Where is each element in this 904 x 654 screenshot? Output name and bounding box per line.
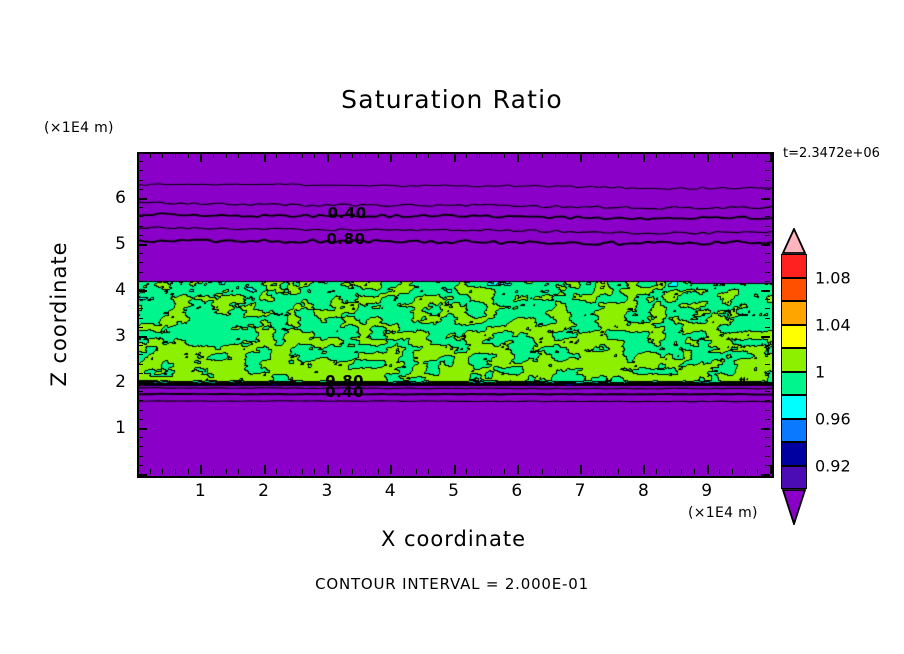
y-tick-label: 5 (96, 234, 126, 254)
x-axis-unit-label: (×1E4 m) (688, 505, 758, 521)
axis-tick (327, 465, 329, 474)
axis-tick (694, 153, 695, 158)
x-tick-label: 3 (321, 481, 332, 501)
axis-tick (643, 153, 645, 162)
axis-tick (765, 400, 770, 401)
axis-tick (732, 153, 733, 158)
axis-tick (162, 153, 163, 158)
axis-tick (761, 290, 770, 292)
colorbar-band (781, 442, 807, 466)
axis-tick (529, 153, 530, 158)
axis-tick (567, 153, 568, 158)
axis-tick (765, 318, 770, 319)
axis-tick (138, 428, 147, 430)
axis-tick (138, 152, 147, 154)
colorbar-tick-label: 1 (815, 362, 825, 381)
axis-tick (732, 469, 733, 474)
x-tick-label: 1 (195, 481, 206, 501)
axis-tick (138, 226, 143, 227)
colorbar-tick-label: 1.08 (815, 268, 851, 287)
axis-tick (669, 153, 670, 158)
axis-tick (765, 364, 770, 365)
axis-tick (378, 153, 379, 158)
axis-tick (765, 327, 770, 328)
axis-tick (707, 465, 709, 474)
axis-tick (340, 469, 341, 474)
axis-tick (138, 354, 143, 355)
axis-tick (719, 153, 720, 158)
axis-tick (138, 456, 143, 457)
axis-tick (264, 465, 266, 474)
axis-tick (213, 153, 214, 158)
axis-tick (238, 153, 239, 158)
axis-tick (365, 153, 366, 158)
axis-tick (138, 207, 143, 208)
axis-tick (757, 469, 758, 474)
colorbar-band (781, 278, 807, 302)
axis-tick (580, 153, 582, 162)
axis-tick (138, 446, 143, 447)
axis-tick (138, 364, 143, 365)
axis-tick (150, 469, 151, 474)
axis-tick (238, 469, 239, 474)
axis-tick (770, 465, 772, 474)
axis-tick (137, 465, 139, 474)
axis-tick (765, 391, 770, 392)
axis-tick (681, 469, 682, 474)
axis-tick (251, 153, 252, 158)
axis-tick (138, 198, 147, 200)
axis-tick (745, 469, 746, 474)
axis-tick (479, 153, 480, 158)
axis-tick (138, 336, 147, 338)
axis-tick (765, 235, 770, 236)
axis-tick (618, 469, 619, 474)
axis-tick (416, 153, 417, 158)
axis-tick (517, 465, 519, 474)
axis-tick (226, 153, 227, 158)
axis-tick (517, 153, 519, 162)
axis-tick (765, 272, 770, 273)
axis-tick (761, 474, 770, 476)
axis-tick (765, 308, 770, 309)
axis-tick (542, 469, 543, 474)
axis-tick (770, 153, 772, 162)
axis-tick (765, 465, 770, 466)
axis-tick (175, 153, 176, 158)
axis-tick (757, 153, 758, 158)
axis-tick (761, 198, 770, 200)
axis-tick (138, 345, 143, 346)
x-tick-label: 5 (448, 481, 459, 501)
colorbar-band (781, 254, 807, 278)
axis-tick (491, 153, 492, 158)
axis-tick (138, 419, 143, 420)
x-tick-label: 7 (575, 481, 586, 501)
axis-tick (765, 419, 770, 420)
axis-tick (138, 400, 143, 401)
time-stamp: t=2.3472e+06 (783, 146, 880, 161)
axis-tick (618, 153, 619, 158)
axis-tick (466, 153, 467, 158)
y-tick-label: 4 (96, 280, 126, 300)
colorbar-band (781, 419, 807, 443)
axis-tick (365, 469, 366, 474)
axis-tick (264, 153, 266, 162)
colorbar-band (781, 395, 807, 419)
axis-tick (765, 281, 770, 282)
colorbar-cap-bottom (781, 489, 807, 525)
colorbar-band (781, 301, 807, 325)
axis-tick (150, 153, 151, 158)
axis-tick (765, 446, 770, 447)
axis-tick (656, 469, 657, 474)
axis-tick (605, 469, 606, 474)
axis-tick (162, 469, 163, 474)
axis-tick (289, 153, 290, 158)
axis-tick (765, 180, 770, 181)
y-axis-unit-label: (×1E4 m) (44, 120, 114, 136)
axis-tick (593, 153, 594, 158)
axis-tick (643, 465, 645, 474)
axis-tick (580, 465, 582, 474)
axis-tick (765, 354, 770, 355)
colorbar-band (781, 372, 807, 396)
colorbar: 1.081.0410.960.92 (781, 228, 807, 518)
axis-tick (765, 253, 770, 254)
axis-tick (765, 216, 770, 217)
axis-tick (138, 410, 143, 411)
x-tick-label: 9 (701, 481, 712, 501)
axis-tick (454, 153, 456, 162)
axis-tick (138, 299, 143, 300)
axis-tick (138, 281, 143, 282)
axis-tick (441, 153, 442, 158)
axis-tick (631, 469, 632, 474)
axis-tick (761, 382, 770, 384)
axis-tick (138, 170, 143, 171)
axis-tick (138, 161, 143, 162)
colorbar-tick-label: 0.96 (815, 409, 851, 428)
axis-tick (416, 469, 417, 474)
y-tick-label: 6 (96, 188, 126, 208)
x-tick-label: 8 (638, 481, 649, 501)
axis-tick (138, 290, 147, 292)
axis-tick (138, 465, 143, 466)
axis-tick (504, 153, 505, 158)
x-tick-label: 4 (385, 481, 396, 501)
axis-tick (567, 469, 568, 474)
axis-tick (765, 456, 770, 457)
axis-tick (276, 469, 277, 474)
axis-tick (765, 170, 770, 171)
axis-tick (761, 336, 770, 338)
axis-tick (390, 153, 392, 162)
axis-tick (138, 327, 143, 328)
axis-tick (765, 207, 770, 208)
axis-tick (765, 262, 770, 263)
axis-tick (138, 373, 143, 374)
axis-tick (200, 465, 202, 474)
axis-tick (765, 226, 770, 227)
axis-tick (761, 428, 770, 430)
x-axis-title: X coordinate (137, 527, 770, 551)
axis-tick (175, 469, 176, 474)
axis-tick (188, 469, 189, 474)
axis-tick (138, 180, 143, 181)
axis-tick (529, 469, 530, 474)
axis-tick (605, 153, 606, 158)
axis-tick (765, 161, 770, 162)
axis-tick (138, 253, 143, 254)
axis-tick (138, 474, 147, 476)
y-tick-label: 1 (96, 418, 126, 438)
axis-tick (765, 373, 770, 374)
contour-plot-area (137, 152, 774, 478)
axis-tick (138, 437, 143, 438)
axis-tick (188, 153, 189, 158)
axis-tick (138, 318, 143, 319)
axis-tick (138, 308, 143, 309)
axis-tick (352, 469, 353, 474)
y-tick-label: 3 (96, 326, 126, 346)
axis-tick (138, 235, 143, 236)
axis-tick (213, 469, 214, 474)
x-tick-label: 6 (511, 481, 522, 501)
axis-tick (479, 469, 480, 474)
axis-tick (765, 299, 770, 300)
axis-tick (327, 153, 329, 162)
axis-tick (745, 153, 746, 158)
axis-tick (314, 469, 315, 474)
colorbar-tick-label: 0.92 (815, 456, 851, 475)
contour-interval-caption: CONTOUR INTERVAL = 2.000E-01 (0, 575, 904, 593)
colorbar-band (781, 348, 807, 372)
axis-tick (593, 469, 594, 474)
axis-tick (504, 469, 505, 474)
axis-tick (314, 153, 315, 158)
y-tick-label: 2 (96, 372, 126, 392)
axis-tick (276, 153, 277, 158)
page-title: Saturation Ratio (0, 85, 904, 114)
axis-tick (226, 469, 227, 474)
axis-tick (352, 153, 353, 158)
axis-tick (138, 244, 147, 246)
colorbar-band (781, 325, 807, 349)
axis-tick (765, 189, 770, 190)
axis-tick (631, 153, 632, 158)
saturation-field-canvas (139, 154, 772, 476)
axis-tick (251, 469, 252, 474)
axis-tick (428, 469, 429, 474)
axis-tick (491, 469, 492, 474)
axis-tick (669, 469, 670, 474)
axis-tick (403, 469, 404, 474)
x-tick-label: 2 (258, 481, 269, 501)
axis-tick (302, 469, 303, 474)
axis-tick (403, 153, 404, 158)
axis-tick (138, 216, 143, 217)
axis-tick (138, 391, 143, 392)
axis-tick (765, 345, 770, 346)
axis-tick (555, 153, 556, 158)
axis-tick (302, 153, 303, 158)
axis-tick (441, 469, 442, 474)
axis-tick (340, 153, 341, 158)
axis-tick (138, 262, 143, 263)
axis-tick (138, 189, 143, 190)
axis-tick (378, 469, 379, 474)
axis-tick (555, 469, 556, 474)
axis-tick (681, 153, 682, 158)
y-axis-title: Z coordinate (47, 234, 71, 394)
colorbar-cap-top (781, 228, 807, 254)
axis-tick (200, 153, 202, 162)
axis-tick (454, 465, 456, 474)
axis-tick (765, 437, 770, 438)
colorbar-tick-label: 1.04 (815, 315, 851, 334)
axis-tick (390, 465, 392, 474)
axis-tick (138, 382, 147, 384)
colorbar-band (781, 466, 807, 490)
axis-tick (138, 272, 143, 273)
axis-tick (289, 469, 290, 474)
axis-tick (656, 153, 657, 158)
axis-tick (466, 469, 467, 474)
axis-tick (719, 469, 720, 474)
axis-tick (542, 153, 543, 158)
axis-tick (707, 153, 709, 162)
axis-tick (761, 244, 770, 246)
axis-tick (428, 153, 429, 158)
axis-tick (761, 152, 770, 154)
axis-tick (765, 410, 770, 411)
axis-tick (694, 469, 695, 474)
